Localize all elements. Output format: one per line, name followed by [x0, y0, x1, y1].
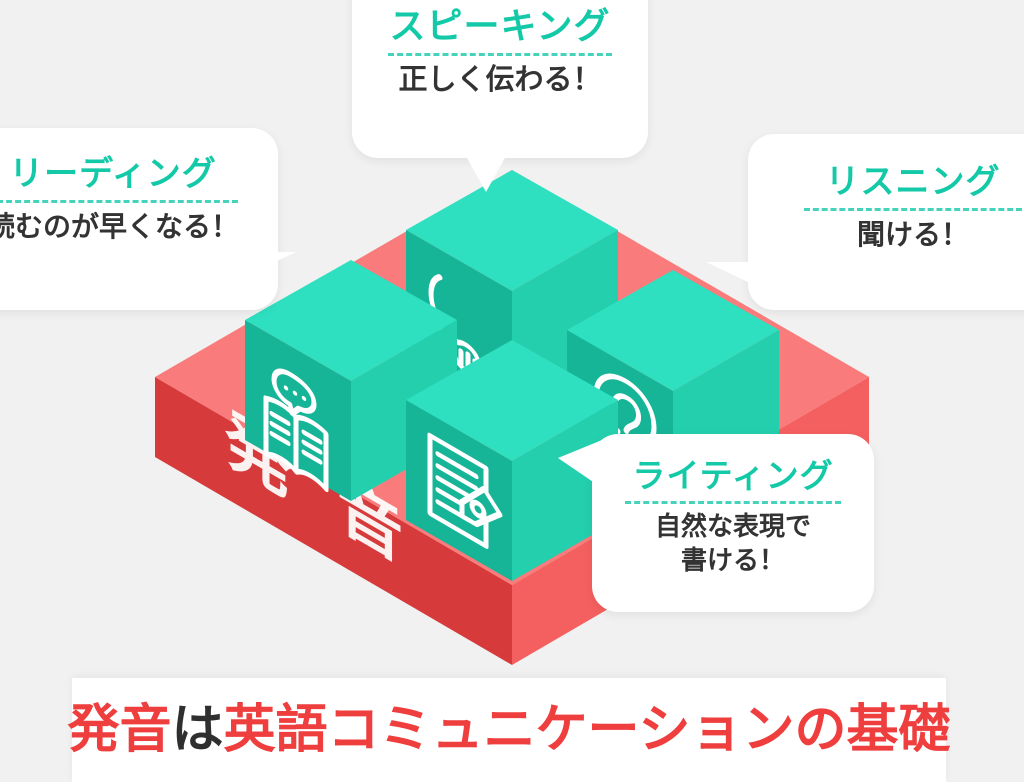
bubble-listening-title: リスニング [748, 164, 1024, 201]
caption-text: 発音は英語コミュニケーションの基礎 [68, 704, 951, 756]
bubble-speaking-tail [466, 156, 506, 192]
bubble-reading-body: 読むのが早くなる！ [0, 209, 278, 245]
caption-segment-1: 発音 [68, 701, 172, 759]
bubble-speaking[interactable]: スピーキング 正しく伝わる！ [352, 0, 648, 158]
bubble-writing-body-line1: 自然な表現で [592, 510, 874, 544]
bubble-speaking-title: スピーキング [352, 6, 648, 46]
bubble-listening-divider [804, 208, 1022, 211]
bubble-reading-tail [250, 252, 296, 274]
infographic-canvas: 発 音 [0, 0, 1024, 768]
bubble-speaking-body: 正しく伝わる！ [352, 62, 648, 100]
caption-bar: 発音は英語コミュニケーションの基礎 [72, 678, 946, 782]
bubble-writing-title: ライティング [592, 458, 874, 494]
bubble-writing-body-line2: 書ける！ [592, 544, 874, 578]
bubble-speaking-divider [388, 53, 612, 56]
caption-segment-2: は [172, 701, 224, 759]
bubble-writing[interactable]: ライティング 自然な表現で 書ける！ [592, 434, 874, 612]
bubble-reading[interactable]: リーディング 読むのが早くなる！ [0, 128, 278, 310]
caption-segment-3: 英語コミュニケーションの基礎 [224, 701, 951, 759]
bubble-writing-divider [625, 501, 841, 504]
bubble-reading-divider [0, 200, 238, 203]
bubble-listening[interactable]: リスニング 聞ける！ [748, 134, 1024, 310]
bubble-listening-tail [706, 262, 752, 284]
bubble-listening-body: 聞ける！ [748, 217, 1024, 253]
bubble-reading-title: リーディング [0, 156, 278, 193]
bubble-writing-tail [558, 440, 602, 488]
